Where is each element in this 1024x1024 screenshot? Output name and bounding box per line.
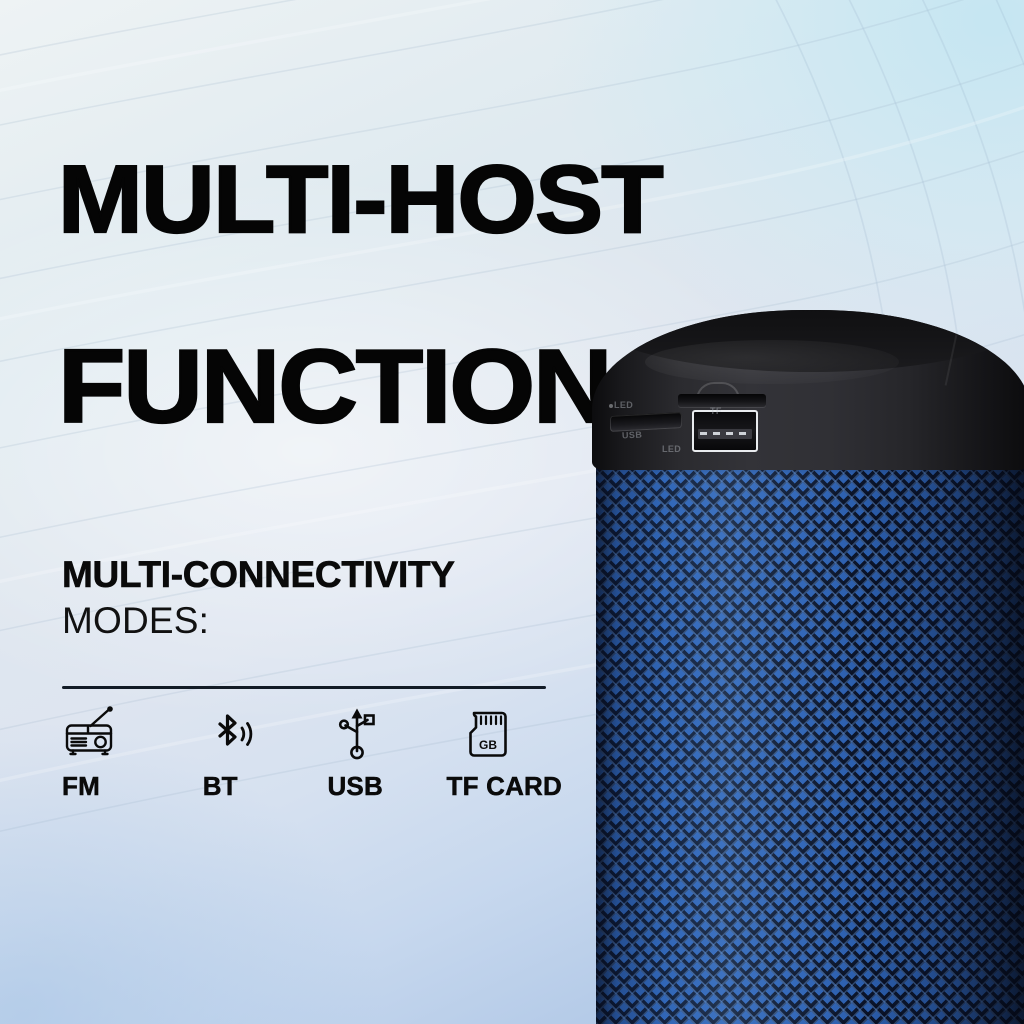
speaker-mesh-grille (596, 440, 1024, 1024)
connectivity-heading: MULTI-CONNECTIVITY MODES: (62, 556, 562, 643)
speaker-label-usb: USB (622, 429, 643, 440)
mode-item-usb: USB (325, 706, 446, 802)
tf-card-icon: GB (447, 706, 511, 762)
speaker-micro-usb-port (610, 412, 682, 432)
mode-label-tf-card: TF CARD (447, 771, 563, 802)
speaker-usb-a-port (692, 410, 758, 452)
speaker-cap-gloss (645, 340, 899, 384)
speaker-led-indicator (609, 404, 613, 408)
speaker-label-tf: TF (710, 406, 722, 416)
speaker-label-led-top: LED (614, 400, 633, 410)
speaker-usb-pins (700, 432, 750, 435)
bluetooth-icon (195, 706, 256, 762)
speaker-label-led-bottom: LED (662, 444, 681, 454)
tf-card-badge-text: GB (479, 738, 497, 752)
headline-line-1: MULTI-HOST (58, 154, 1012, 246)
mode-label-bt: BT (195, 771, 238, 802)
speaker-tf-card-slot (678, 394, 766, 407)
fm-radio-icon (62, 706, 120, 762)
product-feature-banner: MULTI-HOST FUNCTIONALITY LED TF USB (0, 0, 1024, 1024)
speaker-cylinder-shading (596, 440, 1024, 1024)
connectivity-heading-line-1: MULTI-CONNECTIVITY (62, 556, 562, 595)
product-image-speaker: LED TF USB LED (588, 300, 1024, 1024)
speaker-top-cap: LED TF USB LED (592, 310, 1024, 470)
connectivity-heading-line-2: MODES: (62, 599, 562, 643)
mode-item-fm: FM (62, 706, 195, 802)
mode-label-fm: FM (62, 771, 100, 802)
mode-label-usb: USB (325, 771, 383, 802)
usb-icon (325, 706, 381, 762)
section-divider (62, 686, 546, 689)
connectivity-modes-list: FM BT (62, 706, 562, 802)
mode-item-bt: BT (195, 706, 326, 802)
mode-item-tf-card: GB TF CARD (447, 706, 563, 802)
